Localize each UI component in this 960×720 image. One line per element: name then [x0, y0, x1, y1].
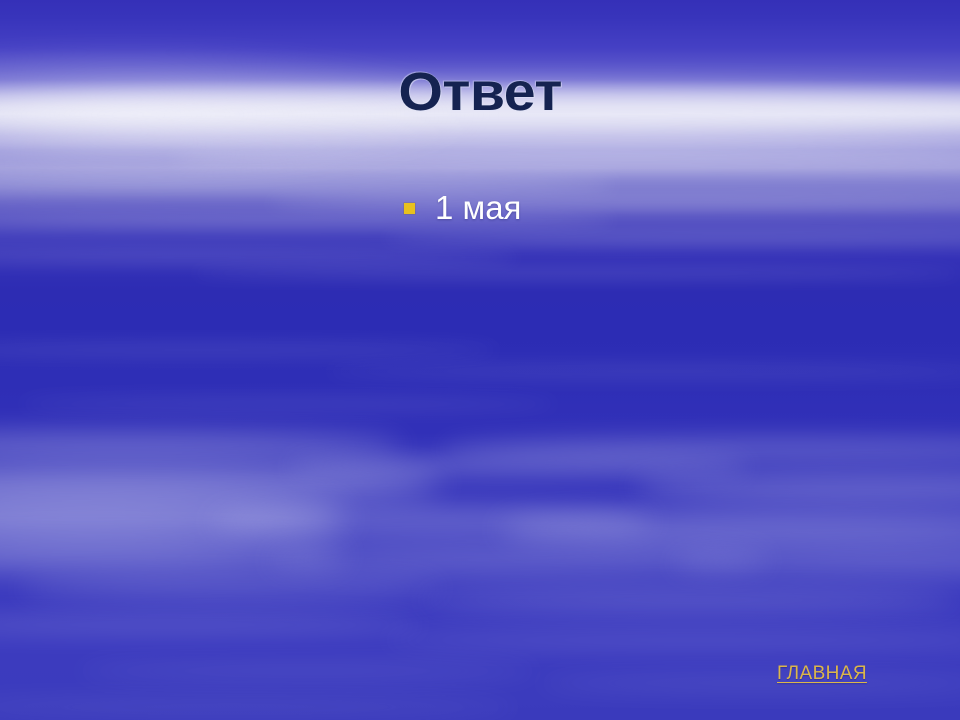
slide-title-text: Ответ: [398, 60, 561, 124]
bullet-item-label: 1 мая: [435, 188, 521, 228]
slide-bullet-list: 1 мая: [404, 186, 924, 230]
slide-title: Ответ: [0, 60, 960, 124]
list-item: 1 мая: [404, 186, 924, 230]
home-link[interactable]: ГЛАВНАЯ: [777, 662, 867, 686]
square-bullet-icon: [404, 203, 415, 214]
presentation-slide: Ответ 1 мая ГЛАВНАЯ: [0, 0, 960, 720]
